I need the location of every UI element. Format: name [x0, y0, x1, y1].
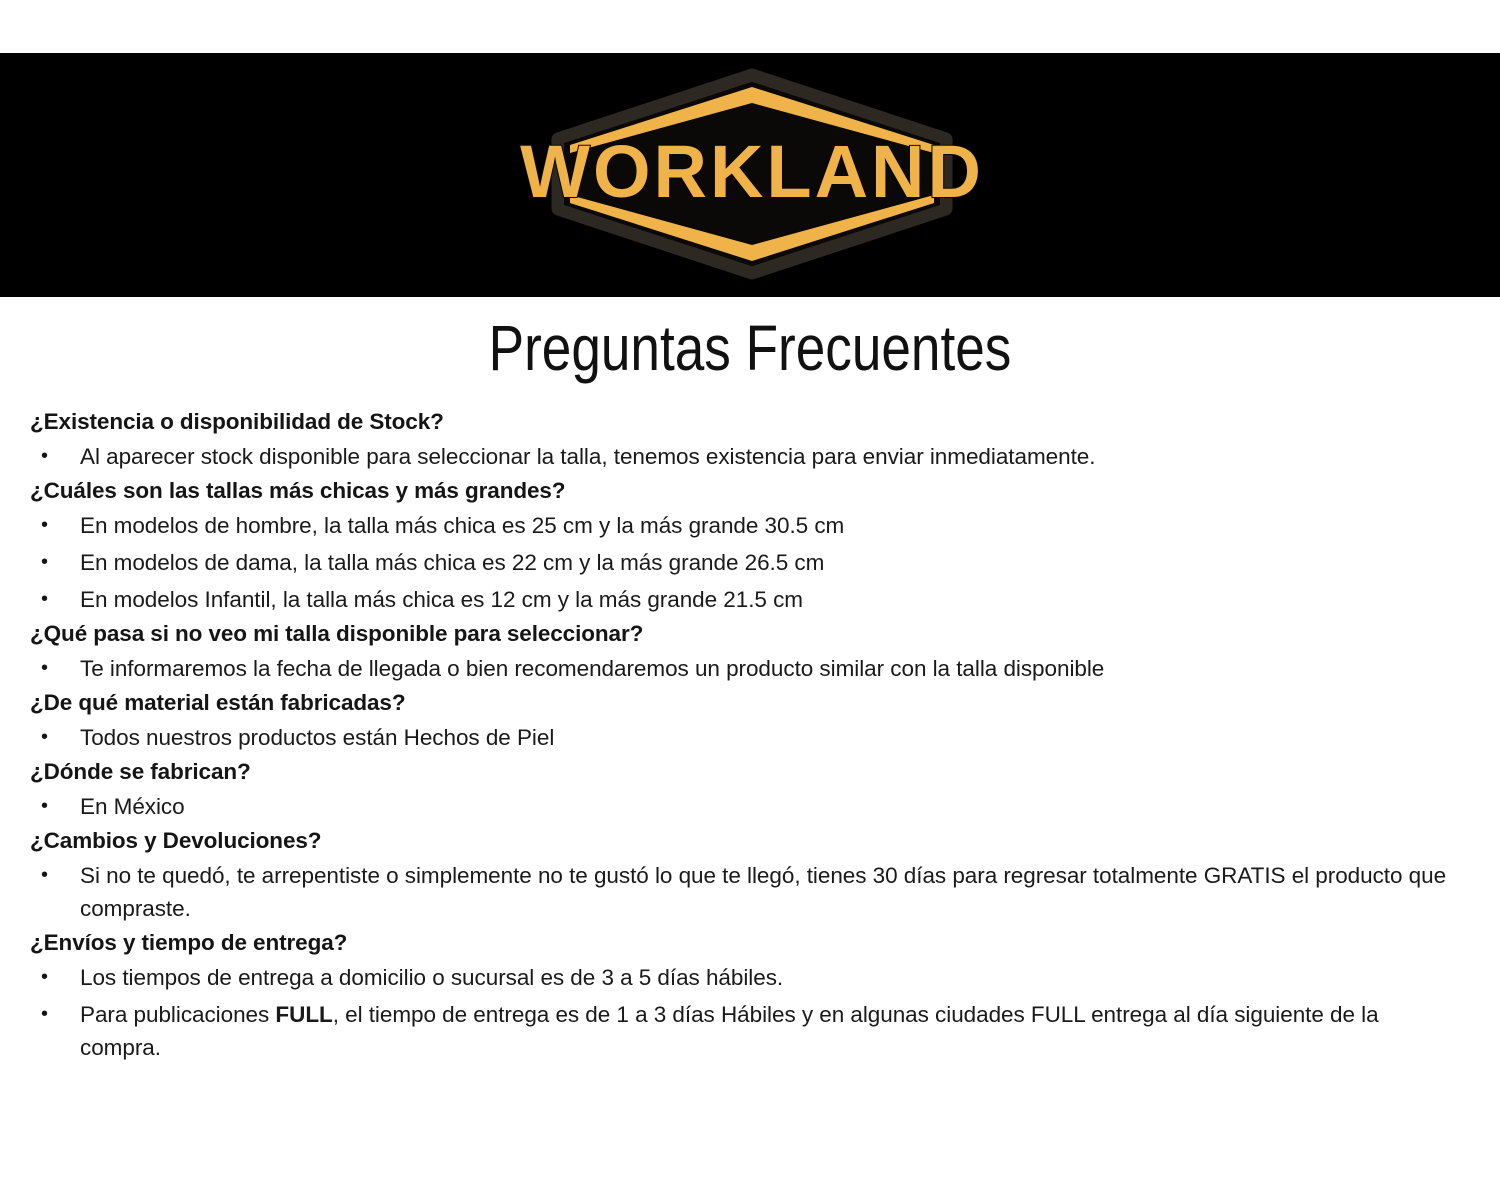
bullet-icon: •: [0, 721, 48, 754]
faq-answer-item: •Te informaremos la fecha de llegada o b…: [0, 650, 1500, 687]
faq-answer-text: En modelos de dama, la talla más chica e…: [48, 546, 1500, 579]
bullet-icon: •: [0, 790, 48, 823]
bullet-icon: •: [0, 652, 48, 685]
page-title: Preguntas Frecuentes: [128, 311, 1373, 385]
answer-text-before: Para publicaciones: [80, 1002, 275, 1027]
brand-header-banner: WORKLAND M.R.: [0, 53, 1500, 297]
faq-answer-text: Los tiempos de entrega a domicilio o suc…: [48, 961, 1500, 994]
logo-wordmark: WORKLAND: [520, 130, 984, 213]
bullet-icon: •: [0, 440, 48, 473]
faq-answer-text: Todos nuestros productos están Hechos de…: [48, 721, 1500, 754]
faq-answer-item: •Los tiempos de entrega a domicilio o su…: [0, 959, 1500, 996]
workland-logo-svg: WORKLAND: [516, 65, 988, 283]
faq-answer-item: •En modelos de hombre, la talla más chic…: [0, 507, 1500, 544]
faq-question: ¿Existencia o disponibilidad de Stock?: [0, 406, 1500, 438]
faq-answer-item: •Todos nuestros productos están Hechos d…: [0, 719, 1500, 756]
faq-list: ¿Existencia o disponibilidad de Stock?•A…: [0, 406, 1500, 1066]
bullet-icon: •: [0, 546, 48, 579]
bullet-icon: •: [0, 583, 48, 616]
bullet-icon: •: [0, 998, 48, 1031]
faq-question: ¿Envíos y tiempo de entrega?: [0, 927, 1500, 959]
bullet-icon: •: [0, 859, 48, 892]
faq-question: ¿Cambios y Devoluciones?: [0, 825, 1500, 857]
faq-answer-text: Te informaremos la fecha de llegada o bi…: [48, 652, 1500, 685]
faq-answer-item: •En modelos de dama, la talla más chica …: [0, 544, 1500, 581]
faq-answer-text: Si no te quedó, te arrepentiste o simple…: [48, 859, 1500, 925]
faq-answer-item: •Si no te quedó, te arrepentiste o simpl…: [0, 857, 1500, 927]
faq-question: ¿Dónde se fabrican?: [0, 756, 1500, 788]
faq-answer-text: En modelos Infantil, la talla más chica …: [48, 583, 1500, 616]
faq-answer-text: En modelos de hombre, la talla más chica…: [48, 509, 1500, 542]
faq-question: ¿De qué material están fabricadas?: [0, 687, 1500, 719]
faq-answer-text: En México: [48, 790, 1500, 823]
faq-answer-item: •En México: [0, 788, 1500, 825]
faq-answer-item: •En modelos Infantil, la talla más chica…: [0, 581, 1500, 618]
workland-logo: WORKLAND: [516, 65, 988, 283]
faq-answer-text: Para publicaciones FULL, el tiempo de en…: [48, 998, 1500, 1064]
faq-question: ¿Qué pasa si no veo mi talla disponible …: [0, 618, 1500, 650]
bullet-icon: •: [0, 509, 48, 542]
faq-answer-item: •Al aparecer stock disponible para selec…: [0, 438, 1500, 475]
bullet-icon: •: [0, 961, 48, 994]
faq-answer-text: Al aparecer stock disponible para selecc…: [48, 440, 1500, 473]
faq-question: ¿Cuáles son las tallas más chicas y más …: [0, 475, 1500, 507]
answer-text-emphasis: FULL: [275, 1002, 332, 1027]
faq-answer-item: •Para publicaciones FULL, el tiempo de e…: [0, 996, 1500, 1066]
